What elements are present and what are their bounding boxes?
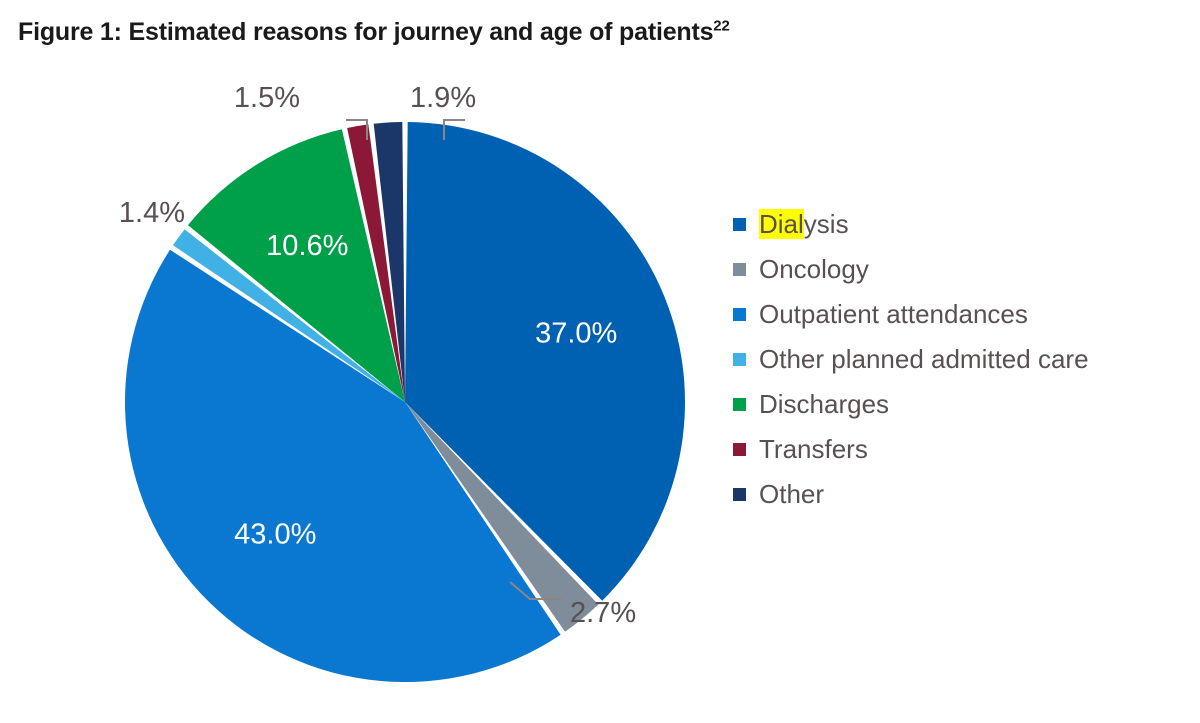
legend-item-label: Transfers: [759, 434, 868, 465]
legend-item-label: Outpatient attendances: [759, 299, 1028, 330]
legend-item[interactable]: Other: [733, 472, 1183, 517]
figure-title-text: Figure 1: Estimated reasons for journey …: [18, 18, 713, 46]
pie-slice-label: 2.7%: [570, 597, 636, 629]
legend-swatch-icon: [733, 218, 746, 231]
legend-item[interactable]: Oncology: [733, 247, 1183, 292]
pie-chart: 37.0%2.7%43.0%1.4%10.6%1.5%1.9%: [10, 62, 730, 702]
legend-item[interactable]: Discharges: [733, 382, 1183, 427]
pie-slice-label: 10.6%: [266, 230, 348, 262]
legend-item-label: Oncology: [759, 254, 869, 285]
pie-slice-label: 1.5%: [234, 82, 300, 114]
legend-item[interactable]: Other planned admitted care: [733, 337, 1183, 382]
pie-slice-label: 43.0%: [234, 519, 316, 551]
figure-title: Figure 1: Estimated reasons for journey …: [18, 18, 730, 47]
legend-item[interactable]: Outpatient attendances: [733, 292, 1183, 337]
legend-swatch-icon: [733, 488, 746, 501]
legend-swatch-icon: [733, 308, 746, 321]
legend-swatch-icon: [733, 263, 746, 276]
pie-slice-label: 1.4%: [119, 197, 185, 229]
legend-item-label: Dialysis: [759, 209, 849, 240]
legend-item[interactable]: Dialysis: [733, 202, 1183, 247]
chart-legend: DialysisOncologyOutpatient attendancesOt…: [733, 202, 1183, 517]
legend-label-highlight: Dial: [759, 209, 804, 239]
figure-container: Figure 1: Estimated reasons for journey …: [0, 0, 1200, 723]
legend-item-label: Other planned admitted care: [759, 344, 1089, 375]
figure-title-superscript: 22: [713, 18, 729, 35]
legend-item-label: Other: [759, 479, 824, 510]
pie-slice-label: 37.0%: [535, 317, 617, 349]
legend-item-label: Discharges: [759, 389, 889, 420]
pie-slice-label: 1.9%: [410, 82, 476, 114]
legend-swatch-icon: [733, 353, 746, 366]
chart-area: 37.0%2.7%43.0%1.4%10.6%1.5%1.9% Dialysis…: [0, 62, 1200, 723]
legend-swatch-icon: [733, 398, 746, 411]
legend-swatch-icon: [733, 443, 746, 456]
legend-item[interactable]: Transfers: [733, 427, 1183, 472]
